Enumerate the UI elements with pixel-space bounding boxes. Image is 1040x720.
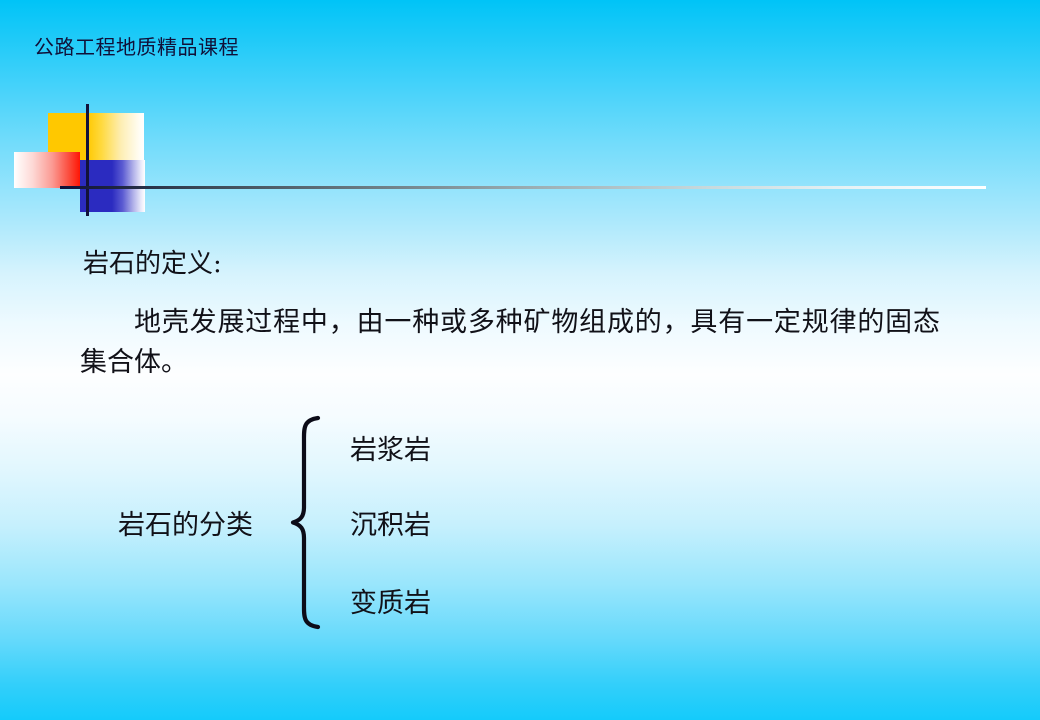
curly-brace-icon — [290, 415, 324, 630]
red-gradient-rectangle-icon — [14, 152, 80, 188]
definition-body-text: 地壳发展过程中，由一种或多种矿物组成的，具有一定规律的固态集合体。 — [80, 303, 940, 383]
classification-item-igneous: 岩浆岩 — [350, 428, 431, 467]
classification-group: 岩石的分类 岩浆岩 沉积岩 变质岩 — [118, 415, 538, 630]
yellow-gradient-square-icon — [87, 113, 144, 160]
slide-canvas: 公路工程地质精品课程 岩石的定义: 地壳发展过程中，由一种或多种矿物组成的，具有… — [0, 0, 1040, 720]
horizontal-rule-icon — [60, 186, 986, 189]
vertical-rule-icon — [86, 104, 89, 216]
classification-item-sedimentary: 沉积岩 — [350, 503, 431, 542]
definition-heading: 岩石的定义: — [83, 243, 222, 280]
classification-label: 岩石的分类 — [118, 503, 253, 542]
classification-item-metamorphic: 变质岩 — [350, 581, 431, 620]
decorative-graphic — [0, 0, 1040, 240]
